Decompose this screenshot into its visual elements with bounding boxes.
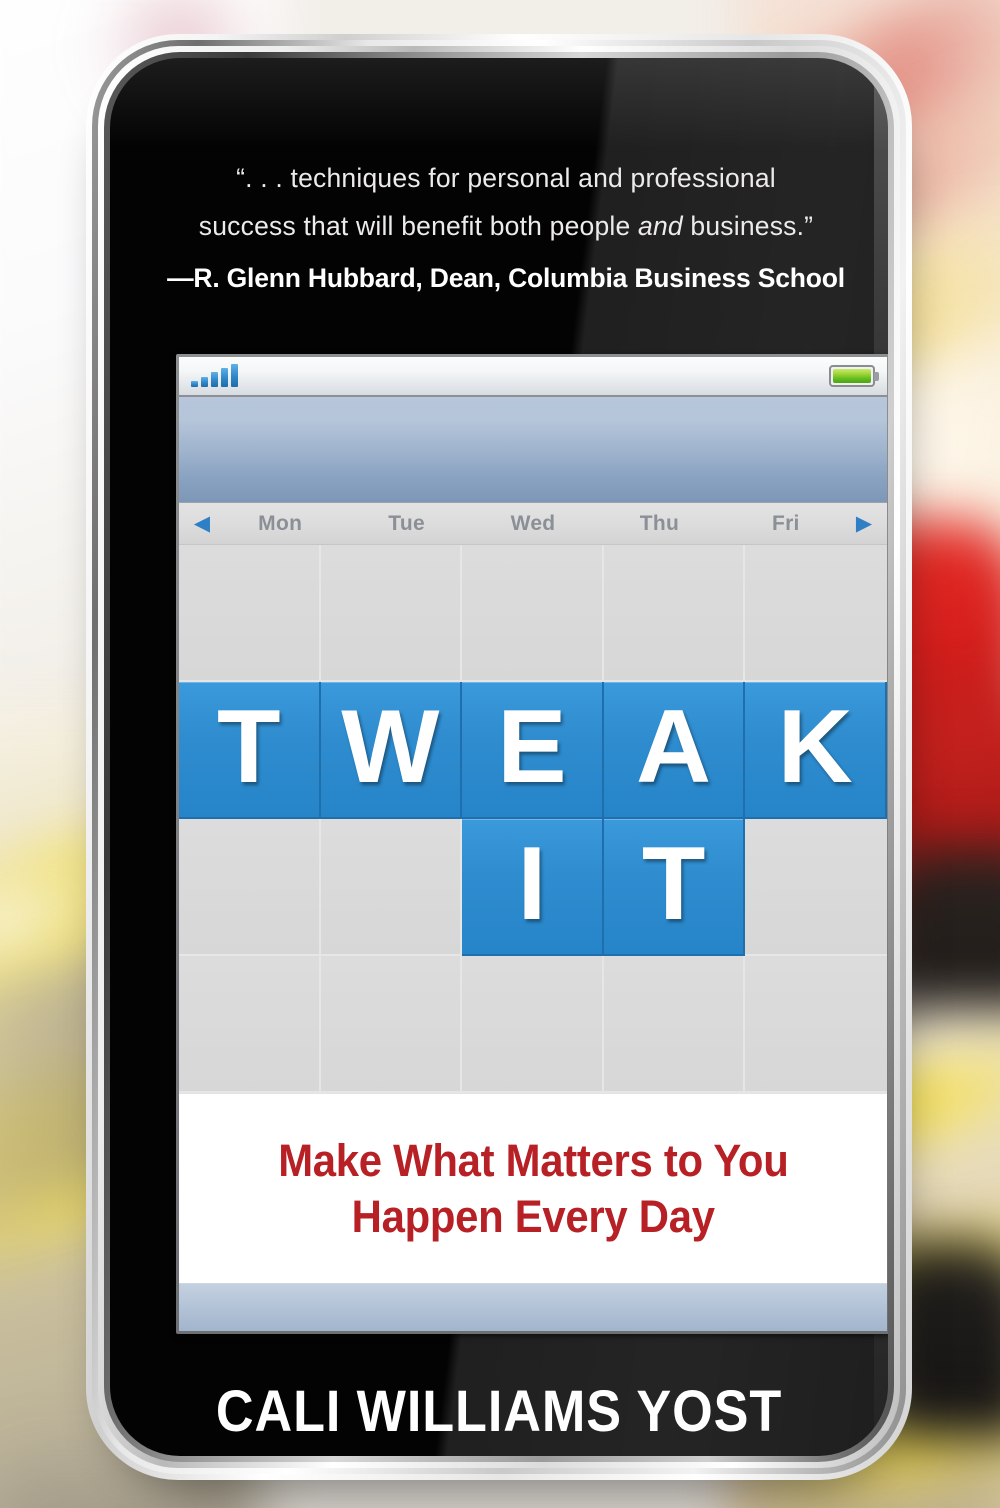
calendar-cell[interactable] <box>745 545 887 682</box>
blurb-line-1: “. . . techniques for personal and profe… <box>164 154 848 202</box>
calendar-cell[interactable] <box>462 545 604 682</box>
app-footer-bar <box>179 1283 887 1331</box>
app-title-bar <box>179 397 887 503</box>
calendar-cell[interactable] <box>321 545 463 682</box>
title-letter: W <box>321 682 461 817</box>
prev-week-arrow-icon[interactable]: ◀ <box>187 513 217 534</box>
subtitle-line-1: Make What Matters to You <box>278 1134 788 1187</box>
calendar-cell[interactable] <box>321 956 463 1093</box>
calendar-cell-highlighted[interactable]: K <box>745 682 887 819</box>
calendar-cell-highlighted[interactable]: T <box>179 682 321 819</box>
calendar-cell-highlighted[interactable]: A <box>604 682 746 819</box>
endorsement-blurb: “. . . techniques for personal and profe… <box>164 154 848 298</box>
title-letter: T <box>179 682 319 817</box>
calendar-cell-highlighted[interactable]: W <box>321 682 463 819</box>
calendar-cell[interactable] <box>179 545 321 682</box>
battery-cap <box>874 372 879 381</box>
calendar-cell-highlighted[interactable]: E <box>462 682 604 819</box>
day-label-mon[interactable]: Mon <box>217 512 343 536</box>
blurb-attribution: —R. Glenn Hubbard, Dean, Columbia Busine… <box>164 258 848 298</box>
calendar-cell[interactable] <box>179 956 321 1093</box>
blurb-line-2-part-b: business.” <box>683 211 813 241</box>
calendar-cell-highlighted[interactable]: I <box>462 819 604 956</box>
title-letter: T <box>604 819 744 954</box>
day-label-thu[interactable]: Thu <box>596 512 722 536</box>
phone-screen-frame: ◀ Mon Tue Wed Thu Fri ▶ TWEAKIT Make Wha… <box>176 354 888 1334</box>
title-letter: A <box>604 682 744 817</box>
calendar-day-header: ◀ Mon Tue Wed Thu Fri ▶ <box>179 503 887 545</box>
calendar-cell[interactable] <box>179 819 321 956</box>
phone-screen: ◀ Mon Tue Wed Thu Fri ▶ TWEAKIT Make Wha… <box>179 357 887 1331</box>
battery-icon <box>829 365 875 387</box>
signal-bars-icon <box>191 365 238 387</box>
day-label-wed[interactable]: Wed <box>470 512 596 536</box>
battery-fill <box>833 369 871 383</box>
calendar-grid: TWEAKIT <box>179 545 887 1093</box>
blurb-line-2-italic: and <box>638 211 683 241</box>
blurb-line-2: success that will benefit both people an… <box>164 202 848 250</box>
smartphone-illustration: “. . . techniques for personal and profe… <box>86 34 912 1480</box>
title-letter: K <box>745 682 885 817</box>
blurb-line-2-part-a: success that will benefit both people <box>199 211 638 241</box>
calendar-cell[interactable] <box>745 956 887 1093</box>
calendar-cell[interactable] <box>604 545 746 682</box>
author-name: CALI WILLIAMS YOST <box>149 1378 849 1445</box>
day-label-fri[interactable]: Fri <box>723 512 849 536</box>
title-letter: E <box>462 682 602 817</box>
calendar-cell-highlighted[interactable]: T <box>604 819 746 956</box>
phone-front-face: “. . . techniques for personal and profe… <box>110 58 888 1456</box>
subtitle-line-2: Happen Every Day <box>351 1190 714 1243</box>
calendar-cell[interactable] <box>462 956 604 1093</box>
calendar-cell[interactable] <box>321 819 463 956</box>
title-letter: I <box>462 819 602 954</box>
day-labels: Mon Tue Wed Thu Fri <box>217 512 849 536</box>
subtitle-panel: Make What Matters to You Happen Every Da… <box>179 1093 887 1283</box>
status-bar <box>179 357 887 397</box>
calendar-cell[interactable] <box>745 819 887 956</box>
phone-glass-top-glow <box>110 58 888 148</box>
next-week-arrow-icon[interactable]: ▶ <box>849 513 879 534</box>
day-label-tue[interactable]: Tue <box>343 512 469 536</box>
calendar-cell[interactable] <box>604 956 746 1093</box>
